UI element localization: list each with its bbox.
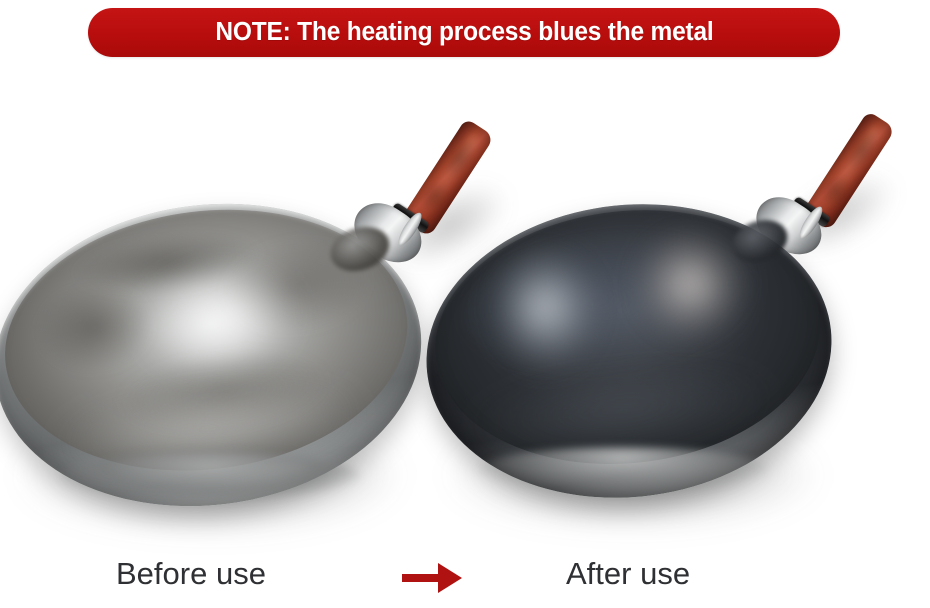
handle-highlight <box>822 126 882 210</box>
wok-before <box>0 100 470 540</box>
caption-after-use: After use <box>566 556 690 592</box>
caption-before-use: Before use <box>116 556 266 592</box>
wok-after <box>418 95 930 545</box>
handle-grain <box>816 170 856 213</box>
wok-after-base <box>478 447 768 493</box>
wok-before-base <box>60 452 360 500</box>
note-banner: NOTE: The heating process blues the meta… <box>88 8 840 57</box>
note-banner-label: NOTE: The heating process blues the meta… <box>215 18 713 47</box>
comparison-image: NOTE: The heating process blues the meta… <box>0 0 930 608</box>
handle-grain <box>840 124 885 176</box>
right-arrow-icon <box>402 561 464 595</box>
